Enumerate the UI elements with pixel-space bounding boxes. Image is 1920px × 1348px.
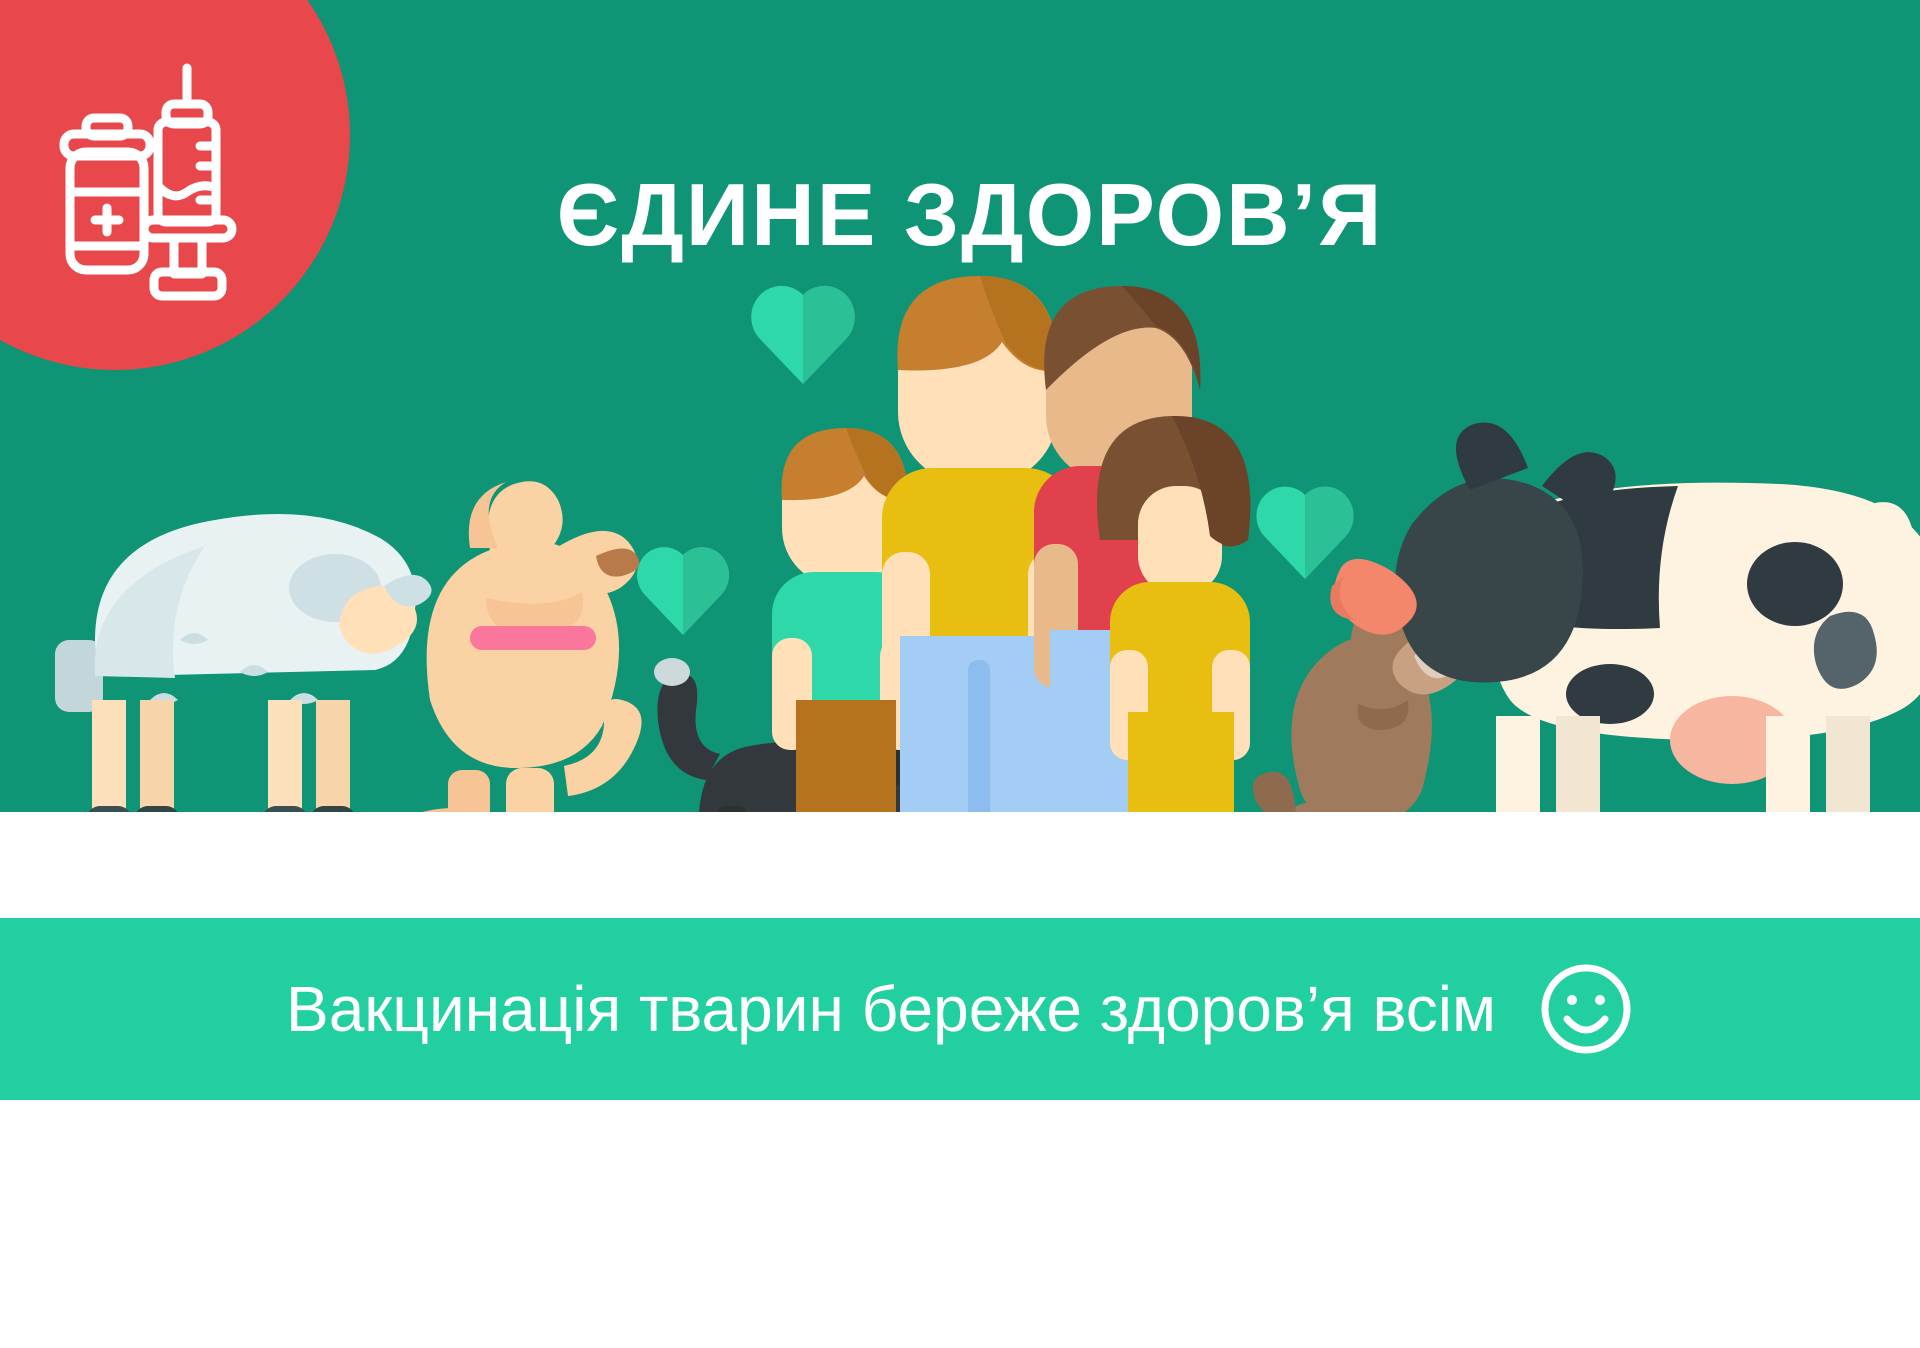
heart-icon (751, 286, 855, 384)
poster-root: ЄДИНЕ ЗДОРОВ’Я (0, 0, 1920, 1348)
tagline-banner: Вакцинація тварин береже здоров’я всім (0, 918, 1920, 1100)
smiley-face-icon (1538, 961, 1634, 1057)
ground-strip (0, 812, 1920, 918)
scene-illustration (0, 0, 1920, 860)
dog (394, 481, 642, 848)
footer-bar: EU4SaferFood (0, 1100, 1920, 1348)
sheep (55, 514, 432, 850)
tagline-text: Вакцинація тварин береже здоров’я всім (286, 972, 1496, 1046)
heart-icon (1256, 487, 1353, 579)
heart-icon (637, 547, 729, 635)
